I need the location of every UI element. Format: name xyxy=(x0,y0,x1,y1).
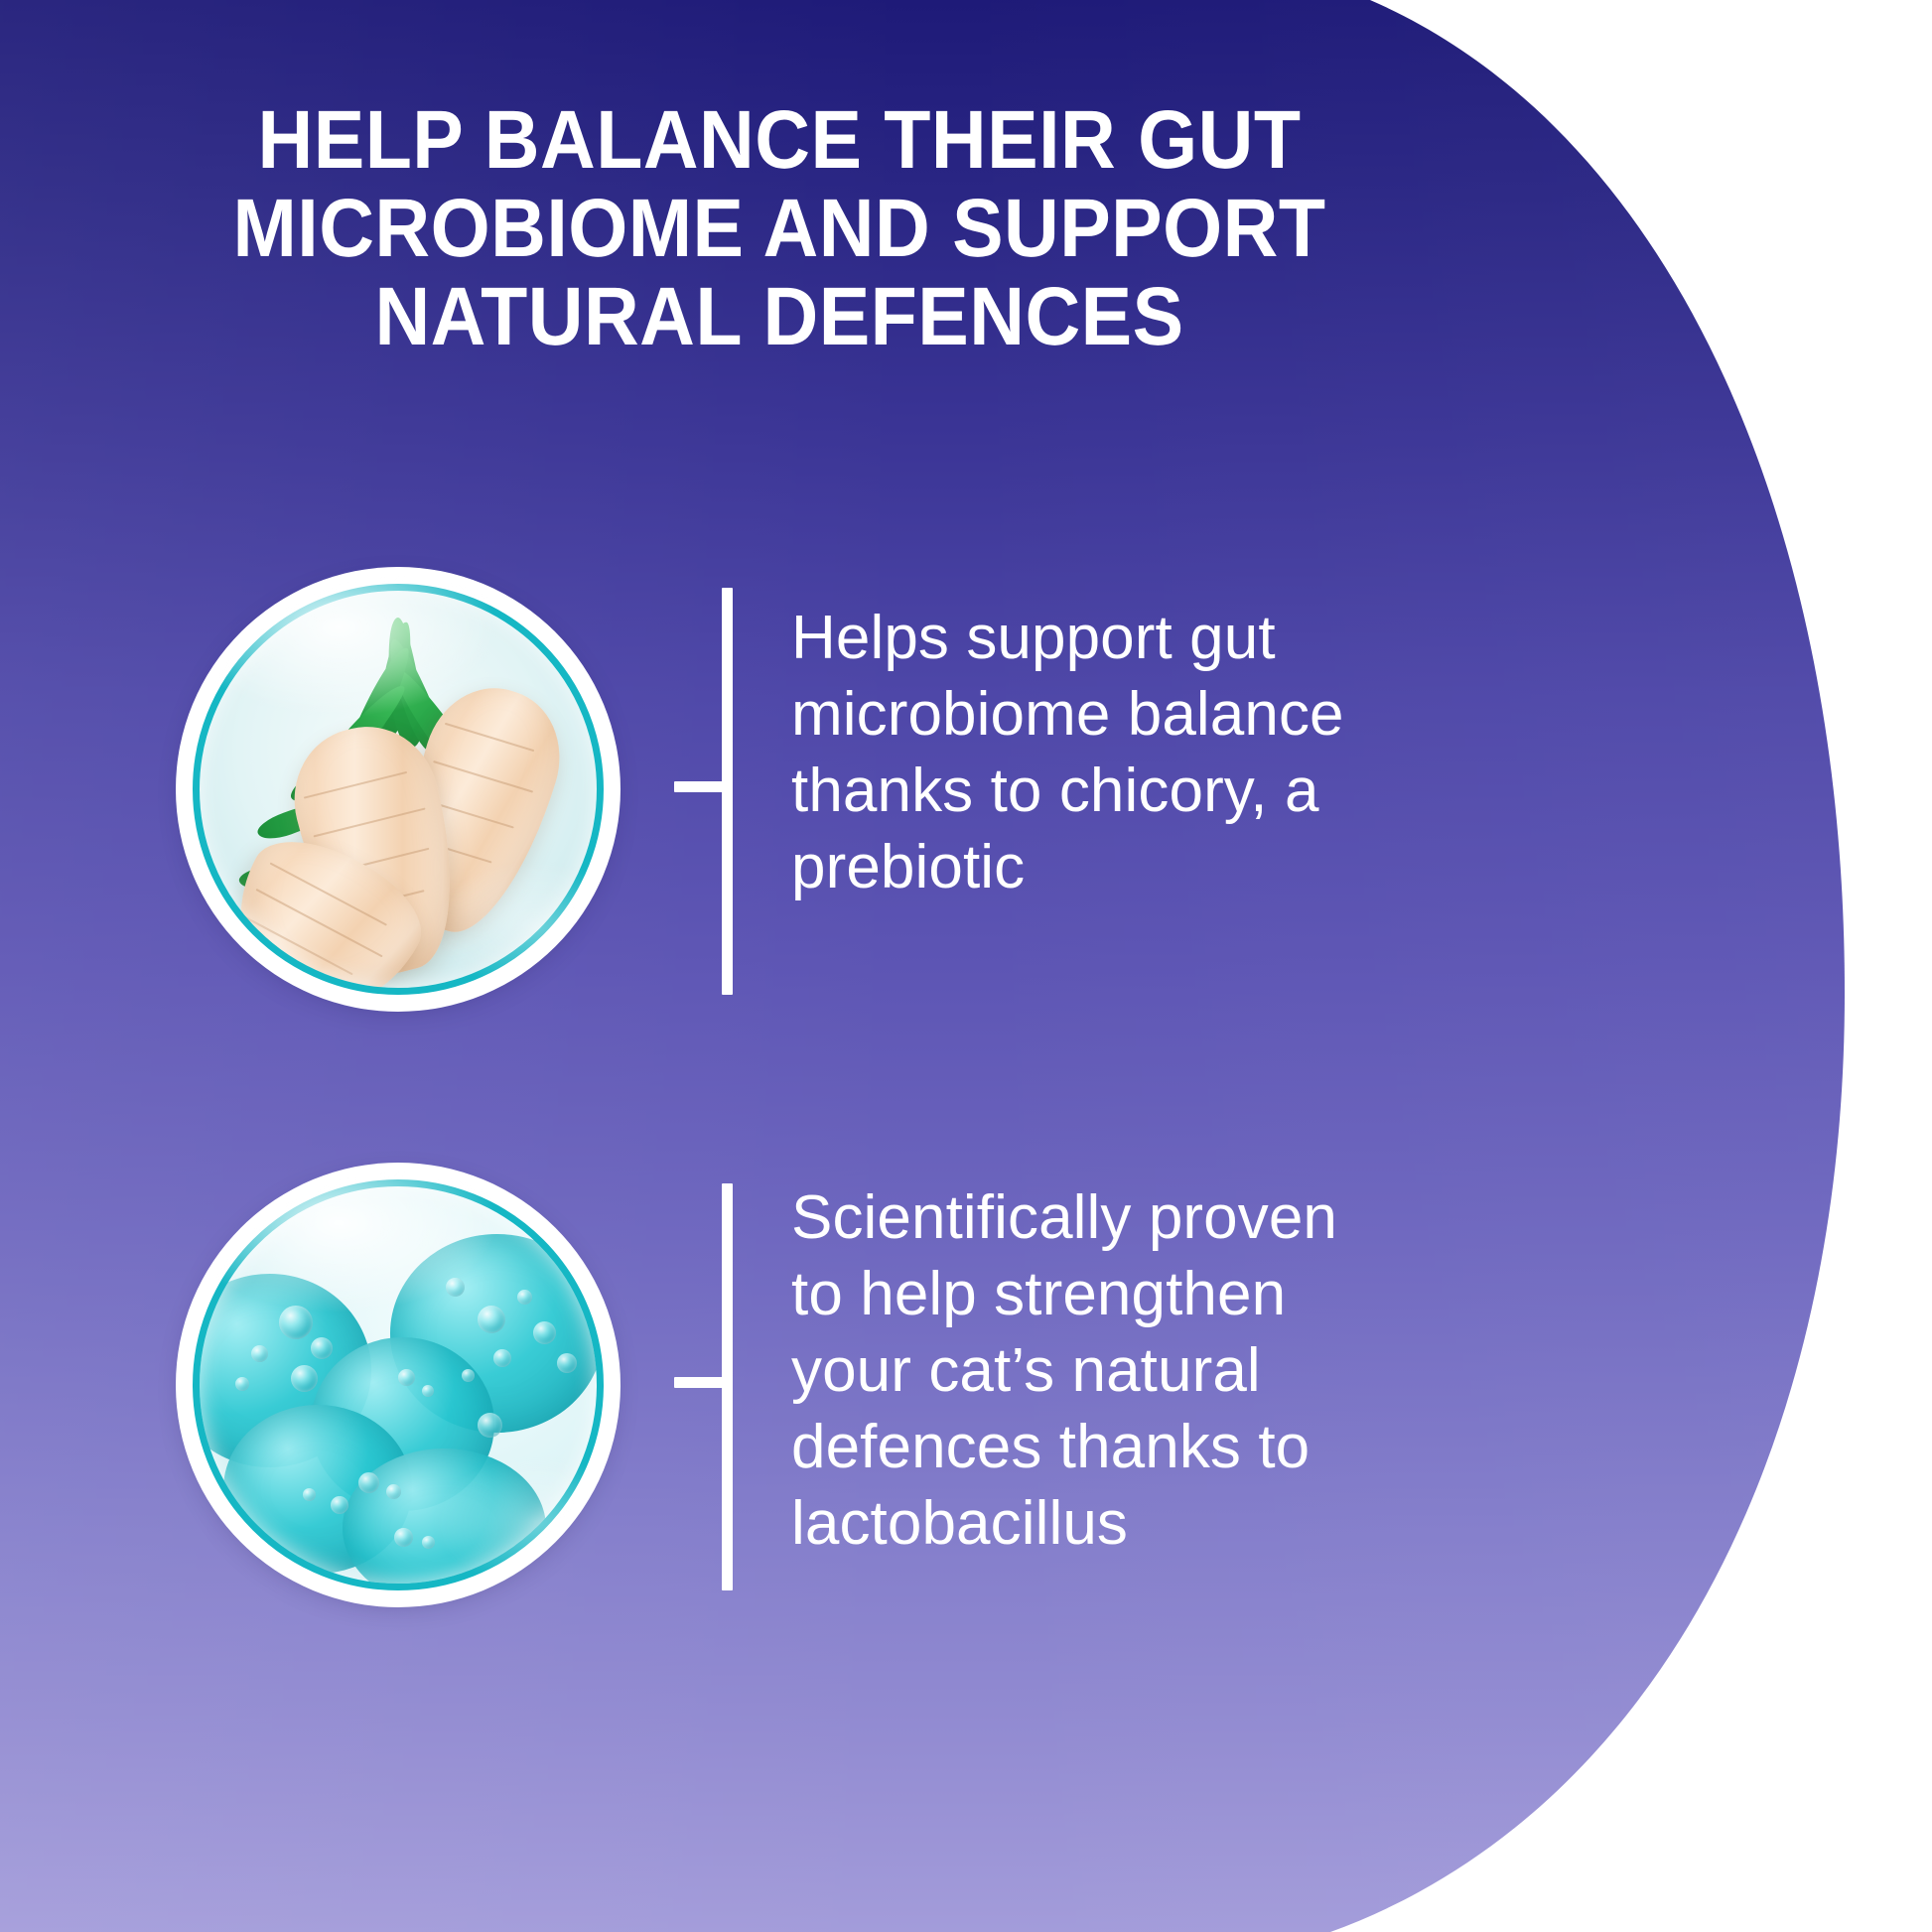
bubble xyxy=(398,1369,415,1386)
bubble xyxy=(422,1385,434,1397)
bubble xyxy=(462,1369,475,1382)
bubble xyxy=(394,1528,413,1547)
bubble xyxy=(311,1337,333,1359)
petri-dish-teal-gel-image xyxy=(185,1172,612,1598)
benefit-tick-mark xyxy=(674,781,732,792)
benefit-tick-mark xyxy=(674,1377,732,1388)
bubble xyxy=(517,1290,532,1305)
bubble xyxy=(279,1306,313,1339)
bubble xyxy=(422,1536,435,1549)
benefit-line: lactobacillus xyxy=(791,1485,1526,1562)
dish-contents-gel xyxy=(200,1186,597,1584)
bubble xyxy=(557,1353,577,1373)
benefit-line: defences thanks to xyxy=(791,1409,1526,1485)
bubble xyxy=(291,1365,318,1392)
benefit-item-lactobacillus: Scientifically proven to help strengthen… xyxy=(0,1172,1932,1598)
benefit-line: to help strengthen xyxy=(791,1256,1526,1332)
bubble xyxy=(303,1488,316,1501)
benefit-text-chicory: Helps support gut microbiome balance tha… xyxy=(791,600,1526,905)
bubble xyxy=(446,1278,465,1297)
bubble xyxy=(478,1306,505,1333)
petri-dish-chicory-roots-image xyxy=(185,576,612,1003)
benefit-line: microbiome balance xyxy=(791,676,1526,753)
benefit-line: thanks to chicory, a xyxy=(791,753,1526,829)
infographic-panel: HELP BALANCE THEIR GUT MICROBIOME AND SU… xyxy=(0,0,1932,1932)
benefit-line: Scientifically proven xyxy=(791,1179,1526,1256)
benefit-line: prebiotic xyxy=(791,829,1526,905)
bubble xyxy=(386,1484,401,1499)
dish-contents-chicory xyxy=(200,591,597,988)
headline-line-2: MICROBIOME AND SUPPORT xyxy=(166,184,1394,272)
bubble xyxy=(235,1377,249,1391)
headline-line-3: NATURAL DEFENCES xyxy=(166,272,1394,360)
benefit-line: Helps support gut xyxy=(791,600,1526,676)
bubble xyxy=(493,1349,511,1367)
headline-line-1: HELP BALANCE THEIR GUT xyxy=(166,95,1394,184)
page-title: HELP BALANCE THEIR GUT MICROBIOME AND SU… xyxy=(166,95,1394,360)
benefit-line: your cat’s natural xyxy=(791,1332,1526,1409)
content-layer: HELP BALANCE THEIR GUT MICROBIOME AND SU… xyxy=(0,0,1932,1932)
benefit-item-chicory: Helps support gut microbiome balance tha… xyxy=(0,576,1932,1003)
bubble xyxy=(478,1413,502,1438)
bubble xyxy=(358,1472,379,1493)
bubble xyxy=(331,1496,348,1514)
benefit-text-lactobacillus: Scientifically proven to help strengthen… xyxy=(791,1179,1526,1562)
bubble xyxy=(251,1345,268,1362)
bubble xyxy=(533,1321,556,1344)
